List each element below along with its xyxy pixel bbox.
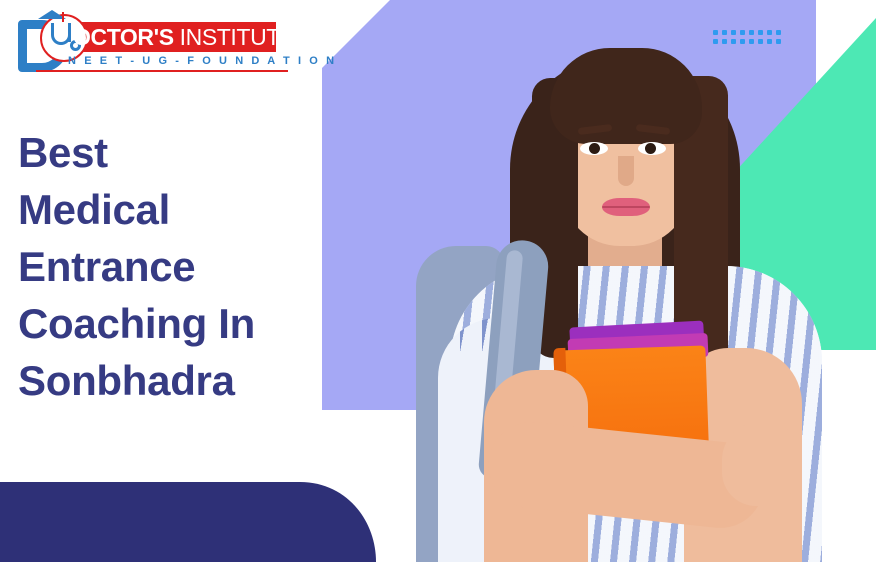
- hair-front: [550, 48, 702, 144]
- dot: [776, 30, 781, 35]
- dot: [740, 30, 745, 35]
- dot: [758, 30, 763, 35]
- nose: [618, 156, 634, 186]
- dot: [767, 39, 772, 44]
- dot: [713, 30, 718, 35]
- hand: [722, 422, 798, 506]
- promo-banner: OCTOR'S INSTITUTE N E E T - U G - F O U …: [0, 0, 876, 562]
- logo-title: OCTOR'S INSTITUTE: [73, 24, 283, 50]
- pupil-right: [645, 143, 656, 154]
- dot: [713, 39, 718, 44]
- student-photo: [392, 18, 876, 562]
- dot: [722, 39, 727, 44]
- logo-tagline: N E E T - U G - F O U N D A T I O N: [68, 54, 280, 68]
- dot: [767, 30, 772, 35]
- headline-line-2: Medical: [18, 181, 348, 238]
- dot: [776, 39, 781, 44]
- dot-grid-decoration: [713, 30, 785, 48]
- headline-line-1: Best: [18, 124, 348, 181]
- graduation-cap-tassel: [62, 12, 64, 22]
- brand-logo[interactable]: OCTOR'S INSTITUTE N E E T - U G - F O U …: [18, 14, 276, 76]
- logo-underline: [36, 70, 288, 72]
- dot: [731, 30, 736, 35]
- contact-bar: [0, 482, 376, 562]
- lip-line: [602, 206, 650, 208]
- dot: [749, 39, 754, 44]
- headline-line-3: Entrance: [18, 238, 348, 295]
- logo-title-light: INSTITUTE: [174, 24, 295, 50]
- pupil-left: [589, 143, 600, 154]
- dot: [731, 39, 736, 44]
- page-title: Best Medical Entrance Coaching In Sonbha…: [18, 124, 348, 409]
- dot: [740, 39, 745, 44]
- stethoscope-stem: [68, 30, 71, 42]
- headline-line-4: Coaching In: [18, 295, 348, 352]
- headline-location: Sonbhadra: [18, 352, 348, 409]
- dot: [749, 30, 754, 35]
- dot: [758, 39, 763, 44]
- logo-title-bold: OCTOR'S: [73, 24, 174, 50]
- dot: [722, 30, 727, 35]
